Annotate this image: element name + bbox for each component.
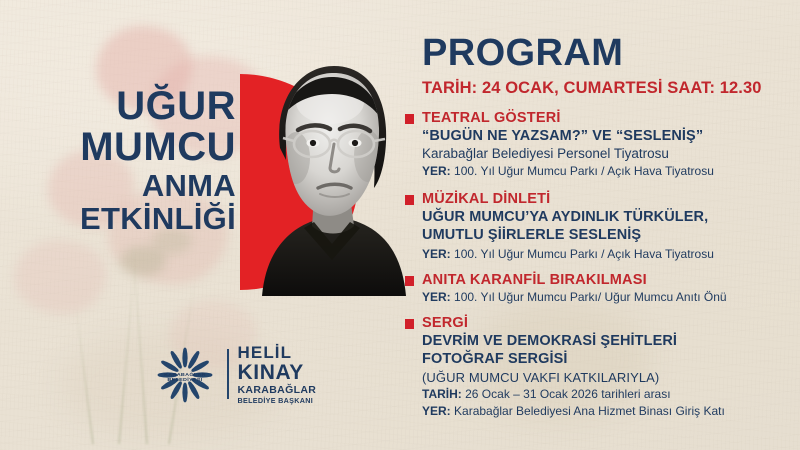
title-line-etkinligi: ETKİNLİĞİ	[0, 203, 236, 236]
date-label: TARİH:	[422, 387, 462, 401]
bullet-square-icon	[405, 276, 414, 286]
program-item-subtitle-1: UĞUR MUMCU’YA AYDINLIK TÜRKÜLER,	[422, 209, 792, 226]
sunburst-emblem-icon: KARABAĞLAR BELEDİYESİ	[152, 344, 218, 404]
program-item-subtitle-2: FOTOĞRAF SERGİSİ	[422, 351, 792, 368]
mayor-last-name: KINAY	[238, 362, 317, 383]
emblem-wordmark: KARABAĞLAR BELEDİYESİ	[146, 372, 224, 382]
program-item-subtitle-1: DEVRİM VE DEMOKRASİ ŞEHİTLERİ	[422, 333, 792, 350]
program-column: PROGRAM TARİH: 24 OCAK, CUMARTESİ SAAT: …	[404, 34, 792, 419]
program-item-title: MÜZİKAL DİNLETİ	[422, 191, 792, 208]
municipality-logo-lockup: KARABAĞLAR BELEDİYESİ HELİL KINAY KARABA…	[152, 344, 316, 404]
mayor-district: KARABAĞLAR	[238, 385, 317, 396]
bullet-square-icon	[405, 114, 414, 124]
place-value: 100. Yıl Uğur Mumcu Parkı/ Uğur Mumcu An…	[454, 290, 727, 304]
date-value: 26 Ocak – 31 Ocak 2026 tarihleri arası	[465, 387, 670, 401]
program-item: MÜZİKAL DİNLETİ UĞUR MUMCU’YA AYDINLIK T…	[404, 191, 792, 261]
place-value: 100. Yıl Uğur Mumcu Parkı / Açık Hava Ti…	[454, 247, 714, 261]
place-value: 100. Yıl Uğur Mumcu Parkı / Açık Hava Ti…	[454, 164, 714, 178]
logo-divider	[227, 349, 229, 399]
title-line-ugur: UĞUR	[0, 86, 236, 127]
title-line-mumcu: MUMCU	[0, 127, 236, 168]
program-item: SERGİ DEVRİM VE DEMOKRASİ ŞEHİTLERİ FOTO…	[404, 315, 792, 419]
mayor-role: BELEDİYE BAŞKANI	[238, 397, 317, 404]
program-item-subtitle-2: UMUTLU ŞİİRLERLE SESLENİŞ	[422, 227, 792, 244]
mayor-first-name: HELİL	[238, 344, 317, 361]
title-line-anma: ANMA	[0, 170, 236, 203]
place-label: YER:	[422, 404, 451, 418]
program-item-title: ANITA KARANFİL BIRAKILMASI	[422, 272, 792, 289]
program-item-subtitle: “BUGÜN NE YAZSAM?” VE “SESLENİŞ”	[422, 128, 792, 145]
event-poster: UĞUR MUMCU ANMA ETKİNLİĞİ	[0, 0, 800, 450]
program-heading: PROGRAM	[422, 34, 792, 72]
place-value: Karabağlar Belediyesi Ana Hizmet Binası …	[454, 404, 725, 418]
program-item-place: YER: 100. Yıl Uğur Mumcu Parkı / Açık Ha…	[422, 247, 792, 262]
program-item-title: SERGİ	[422, 315, 792, 332]
program-item-note: (UĞUR MUMCU VAKFI KATKILARIYLA)	[422, 370, 792, 386]
bullet-square-icon	[405, 319, 414, 329]
program-item-place: YER: Karabağlar Belediyesi Ana Hizmet Bi…	[422, 404, 792, 419]
mayor-name-block: HELİL KINAY KARABAĞLAR BELEDİYE BAŞKANI	[238, 344, 317, 404]
program-item: TEATRAL GÖSTERİ “BUGÜN NE YAZSAM?” VE “S…	[404, 110, 792, 179]
program-item-title: TEATRAL GÖSTERİ	[422, 110, 792, 127]
program-item-place: YER: 100. Yıl Uğur Mumcu Parkı/ Uğur Mum…	[422, 290, 792, 305]
ugur-mumcu-portrait	[256, 46, 406, 296]
bullet-square-icon	[405, 195, 414, 205]
place-label: YER:	[422, 164, 451, 178]
program-item-date: TARİH: 26 Ocak – 31 Ocak 2026 tarihleri …	[422, 387, 792, 402]
program-date-line: TARİH: 24 OCAK, CUMARTESİ SAAT: 12.30	[422, 79, 792, 98]
place-label: YER:	[422, 290, 451, 304]
place-label: YER:	[422, 247, 451, 261]
program-item-place: YER: 100. Yıl Uğur Mumcu Parkı / Açık Ha…	[422, 164, 792, 179]
poster-title: UĞUR MUMCU ANMA ETKİNLİĞİ	[0, 86, 236, 236]
program-item-organizer: Karabağlar Belediyesi Personel Tiyatrosu	[422, 146, 792, 162]
program-item: ANITA KARANFİL BIRAKILMASI YER: 100. Yıl…	[404, 272, 792, 306]
